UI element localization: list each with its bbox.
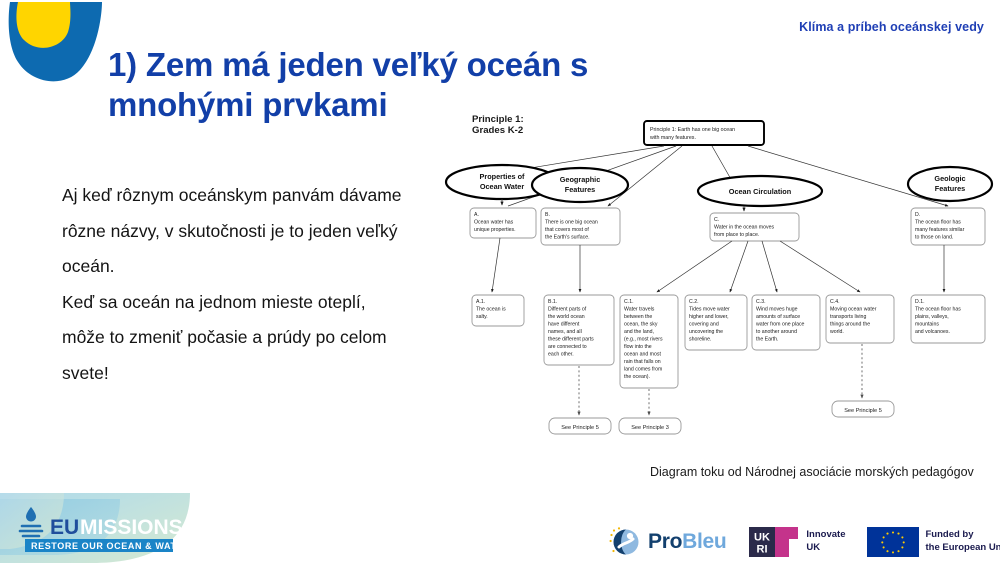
svg-text:C.4.: C.4. <box>830 299 840 305</box>
svg-text:that covers most of: that covers most of <box>545 227 589 233</box>
svg-text:amounts of surface: amounts of surface <box>756 314 800 320</box>
svg-text:and the land,: and the land, <box>624 329 654 335</box>
flow-diagram-svg: Principle 1: Grades K-2 Principle 1: Ear… <box>432 110 1000 450</box>
svg-text:Features: Features <box>935 184 965 193</box>
svg-text:There is one big ocean: There is one big ocean <box>545 220 598 226</box>
innovate-uk-text: Innovate UK <box>806 529 845 555</box>
svg-text:many features similar: many features similar <box>915 227 965 233</box>
svg-text:Water in the ocean moves: Water in the ocean moves <box>714 225 774 231</box>
svg-text:UK: UK <box>754 532 770 544</box>
svg-text:are connected to: are connected to <box>548 344 587 350</box>
svg-text:Ocean water has: Ocean water has <box>474 220 514 226</box>
innovate-uk-line2: UK <box>806 542 845 555</box>
svg-text:Tides move water: Tides move water <box>689 307 730 313</box>
slide-canvas: Klíma a príbeh oceánskej vedy 1) Zem má … <box>0 0 1000 563</box>
probleu-logo: ProBleu <box>608 526 726 558</box>
diagram-heading-line1: Principle 1: <box>472 114 524 125</box>
svg-text:ocean and most: ocean and most <box>624 352 661 358</box>
svg-text:See Principle 5: See Principle 5 <box>561 425 599 431</box>
eu-missions-word-eu: EU <box>50 516 79 539</box>
svg-text:Geologic: Geologic <box>934 174 965 183</box>
eu-funding-line1: Funded by <box>925 529 1000 542</box>
svg-text:C.3.: C.3. <box>756 299 766 305</box>
svg-text:uncovering the: uncovering the <box>689 329 723 335</box>
svg-text:(e.g., most rivers: (e.g., most rivers <box>624 337 663 343</box>
svg-text:Ocean Circulation: Ocean Circulation <box>729 187 791 196</box>
svg-text:flow into the: flow into the <box>624 344 652 350</box>
svg-text:land comes from: land comes from <box>624 367 662 373</box>
node-root <box>644 121 764 145</box>
svg-text:the Earth.: the Earth. <box>756 337 779 343</box>
eu-funding-text: Funded by the European Union <box>925 529 1000 555</box>
svg-text:C.: C. <box>714 217 719 223</box>
svg-text:A.: A. <box>474 212 479 218</box>
page-header-title: Klíma a príbeh oceánskej vedy <box>799 20 984 34</box>
svg-text:these different parts: these different parts <box>548 337 594 343</box>
svg-text:and volcanoes.: and volcanoes. <box>915 329 950 335</box>
svg-text:D.1.: D.1. <box>915 299 925 305</box>
svg-text:Ocean Water: Ocean Water <box>480 182 524 191</box>
probleu-mark-icon <box>608 526 642 558</box>
svg-text:salty.: salty. <box>476 314 488 320</box>
eu-missions-logo: EU MISSIONS RESTORE OUR OCEAN & WATERS <box>0 493 250 563</box>
eu-missions-tagline-text: RESTORE OUR OCEAN & WATERS <box>31 541 197 551</box>
svg-text:from place to place.: from place to place. <box>714 232 759 238</box>
svg-text:between the: between the <box>624 314 652 320</box>
svg-text:Water travels: Water travels <box>624 307 655 313</box>
svg-text:the ocean).: the ocean). <box>624 374 650 380</box>
svg-text:to those on land.: to those on land. <box>915 235 953 241</box>
svg-text:D.: D. <box>915 212 920 218</box>
svg-text:rain that falls on: rain that falls on <box>624 359 661 365</box>
svg-text:Moving ocean water: Moving ocean water <box>830 307 877 313</box>
svg-text:Principle 1: Earth has one big: Principle 1: Earth has one big ocean <box>650 127 735 133</box>
slide-body-text: Aj keď rôznym oceánskym panvám dávame rô… <box>62 178 412 391</box>
body-paragraph-1: Aj keď rôznym oceánskym panvám dávame rô… <box>62 178 412 285</box>
svg-text:higher and lower,: higher and lower, <box>689 314 729 320</box>
svg-text:the Earth's surface.: the Earth's surface. <box>545 235 590 241</box>
svg-text:RI: RI <box>757 544 768 556</box>
svg-text:the world ocean: the world ocean <box>548 314 585 320</box>
svg-text:ocean, the sky: ocean, the sky <box>624 322 658 328</box>
eu-missions-word-missions: MISSIONS <box>80 516 183 539</box>
svg-text:have different: have different <box>548 322 580 328</box>
svg-text:Properties of: Properties of <box>479 172 525 181</box>
svg-text:The ocean floor has: The ocean floor has <box>915 307 961 313</box>
diagram-heading-line2: Grades K-2 <box>472 125 523 136</box>
svg-text:Wind moves huge: Wind moves huge <box>756 307 798 313</box>
eu-funding-logo: Funded by the European Union <box>867 525 1000 559</box>
svg-text:to another around: to another around <box>756 329 797 335</box>
svg-text:unique properties.: unique properties. <box>474 227 516 233</box>
probleu-pro-text: Pro <box>648 530 682 553</box>
svg-text:with many features.: with many features. <box>650 135 696 141</box>
svg-text:B.: B. <box>545 212 550 218</box>
svg-text:Different parts of: Different parts of <box>548 307 587 313</box>
svg-text:Geographic: Geographic <box>560 175 601 184</box>
diagram-caption: Diagram toku od Národnej asociácie morsk… <box>650 460 980 485</box>
brand-swoosh-logo <box>2 0 112 110</box>
svg-text:transports living: transports living <box>830 314 866 320</box>
svg-text:shoreline.: shoreline. <box>689 337 712 343</box>
eu-flag-icon <box>867 525 919 559</box>
svg-text:A.1.: A.1. <box>476 299 485 305</box>
svg-text:The ocean is: The ocean is <box>476 307 506 313</box>
innovate-uk-logo: UK RI Innovate UK <box>748 525 845 559</box>
svg-text:covering and: covering and <box>689 322 719 328</box>
flow-diagram: Principle 1: Grades K-2 Principle 1: Ear… <box>432 110 1000 450</box>
svg-text:mountains: mountains <box>915 322 939 328</box>
svg-text:names, and all: names, and all <box>548 329 582 335</box>
innovate-uk-line1: Innovate <box>806 529 845 542</box>
eu-funding-line2: the European Union <box>925 542 1000 555</box>
svg-text:world.: world. <box>830 329 844 335</box>
svg-text:B.1.: B.1. <box>548 299 557 305</box>
partner-logos-row: ProBleu UK RI Innovate UK <box>608 523 1000 561</box>
probleu-wordmark: ProBleu <box>648 530 726 554</box>
probleu-bleu-text: Bleu <box>682 530 726 553</box>
svg-text:things around the: things around the <box>830 322 870 328</box>
svg-text:See Principle 3: See Principle 3 <box>631 425 669 431</box>
svg-text:Features: Features <box>565 185 595 194</box>
svg-text:See Principle 5: See Principle 5 <box>844 408 882 414</box>
body-paragraph-2: Keď sa oceán na jednom mieste oteplí, mô… <box>62 285 412 392</box>
svg-text:plains, valleys,: plains, valleys, <box>915 314 949 320</box>
svg-text:water from one place: water from one place <box>756 322 805 328</box>
svg-text:each other.: each other. <box>548 352 574 358</box>
svg-text:The ocean floor has: The ocean floor has <box>915 220 961 226</box>
svg-text:C.2.: C.2. <box>689 299 699 305</box>
svg-text:C.1.: C.1. <box>624 299 634 305</box>
ukri-mark-icon: UK RI <box>748 525 800 559</box>
